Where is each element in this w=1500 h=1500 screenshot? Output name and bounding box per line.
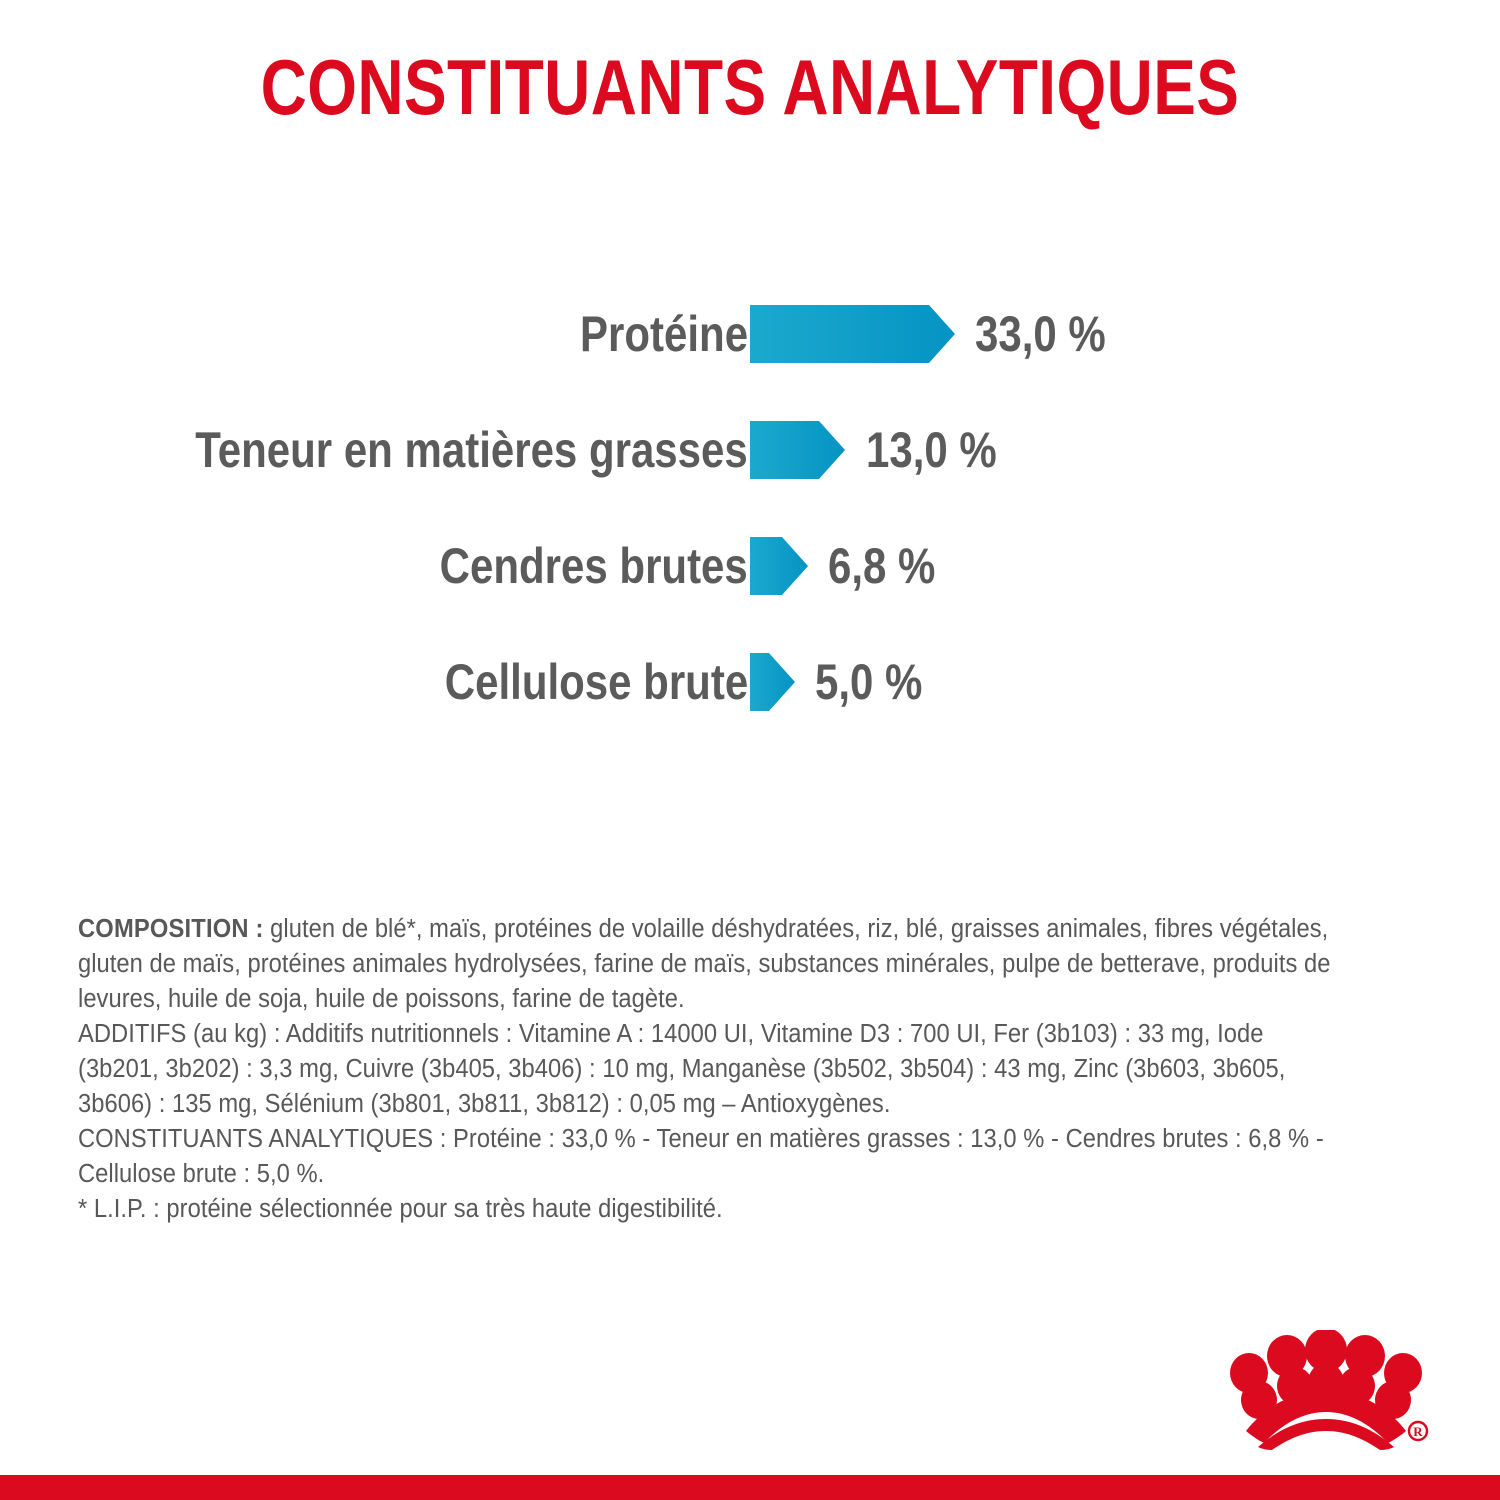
- nutrient-label-cendres-brutes: Cendres brutes: [440, 539, 748, 593]
- nutrient-row: Protéine 33,0 %: [0, 276, 1500, 392]
- nutrient-row: Teneur en matières grasses 13,0 %: [0, 392, 1500, 508]
- nutrient-bar-wrap: [750, 537, 808, 595]
- analytical-constituents-chart: Protéine 33,0 % Teneur en matières grass…: [0, 276, 1500, 740]
- registered-mark: R: [1409, 1422, 1427, 1440]
- composition-label: COMPOSITION :: [78, 915, 264, 943]
- composition-block: COMPOSITION : gluten de blé*, maïs, prot…: [78, 912, 1332, 1227]
- royal-canin-logo: R: [1222, 1330, 1430, 1450]
- nutrient-value-cellulose-brute: 5,0 %: [815, 655, 922, 709]
- svg-text:R: R: [1413, 1424, 1423, 1439]
- additives-paragraph: ADDITIFS (au kg) : Additifs nutritionnel…: [78, 1017, 1332, 1122]
- nutrient-label-cellulose-brute: Cellulose brute: [445, 655, 748, 709]
- nutrient-bar-wrap: [750, 305, 955, 363]
- bottom-red-bar: [0, 1475, 1500, 1500]
- nutrient-bar-wrap: [750, 653, 795, 711]
- nutrient-bar-proteine: [750, 305, 955, 363]
- nutrient-bar-wrap: [750, 421, 845, 479]
- nutrient-label-proteine: Protéine: [580, 307, 748, 361]
- composition-ingredients: gluten de blé*, maïs, protéines de volai…: [78, 915, 1330, 1013]
- composition-paragraph: COMPOSITION : gluten de blé*, maïs, prot…: [78, 912, 1332, 1017]
- crown-icon: R: [1222, 1330, 1430, 1450]
- nutrient-value-matieres-grasses: 13,0 %: [866, 423, 997, 477]
- nutrient-bar-cellulose-brute: [750, 653, 795, 711]
- page-title: CONSTITUANTS ANALYTIQUES: [135, 44, 1365, 130]
- nutrient-row: Cendres brutes 6,8 %: [0, 508, 1500, 624]
- nutrient-value-cendres-brutes: 6,8 %: [828, 539, 935, 593]
- nutrient-bar-cendres-brutes: [750, 537, 808, 595]
- nutrient-bar-matieres-grasses: [750, 421, 845, 479]
- nutrient-row: Cellulose brute 5,0 %: [0, 624, 1500, 740]
- nutrient-value-proteine: 33,0 %: [975, 307, 1106, 361]
- nutrient-label-matieres-grasses: Teneur en matières grasses: [195, 423, 748, 477]
- lip-footnote: * L.I.P. : protéine sélectionnée pour sa…: [78, 1192, 1332, 1227]
- analytical-summary-paragraph: CONSTITUANTS ANALYTIQUES : Protéine : 33…: [78, 1122, 1332, 1192]
